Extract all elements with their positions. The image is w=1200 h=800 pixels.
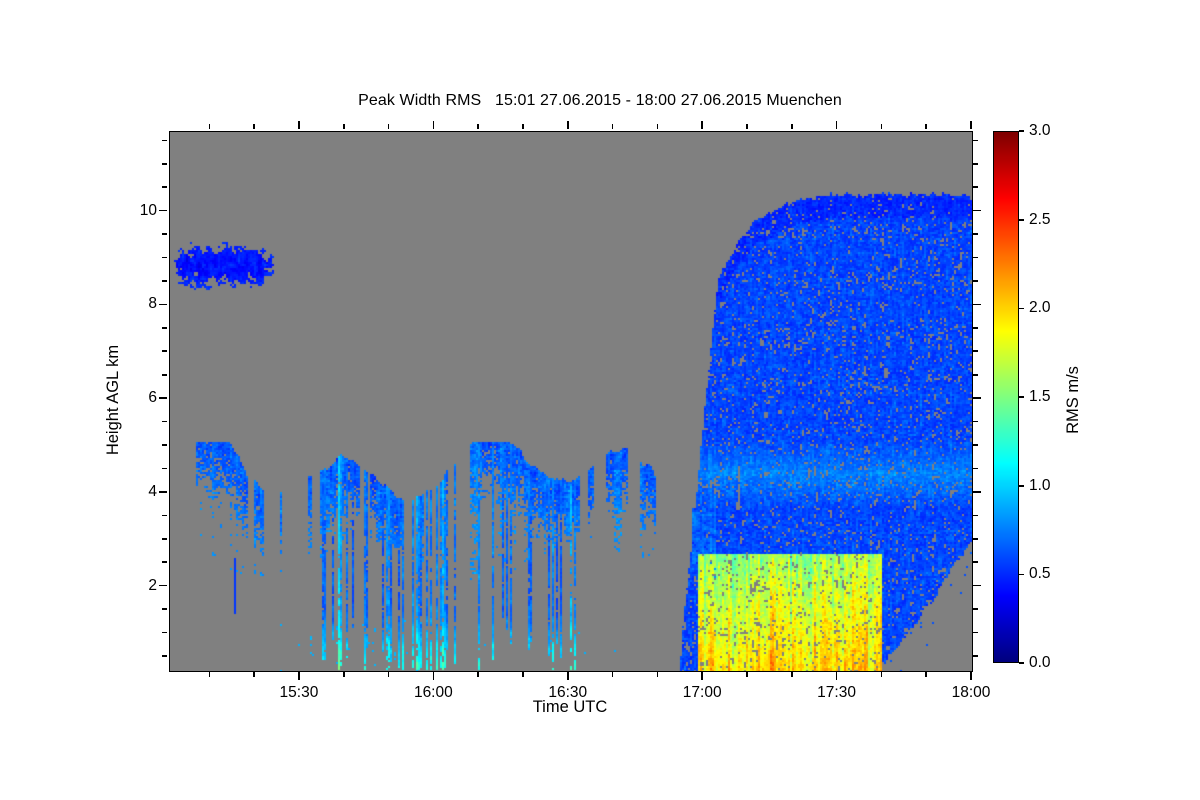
colorbar-tick xyxy=(1019,662,1024,664)
y-major-tick xyxy=(159,397,167,399)
y-axis-title-wrap: Height AGL km xyxy=(112,0,113,800)
y-minor-tick-right xyxy=(973,327,978,329)
plot-area[interactable] xyxy=(169,131,973,672)
colorbar-tick xyxy=(1019,396,1024,398)
y-minor-tick-right xyxy=(973,632,978,634)
x-minor-tick-top xyxy=(209,124,211,129)
y-minor-tick xyxy=(162,421,167,423)
y-major-tick xyxy=(159,210,167,212)
colorbar-tick-label: 1.0 xyxy=(1029,477,1051,495)
y-minor-tick-right xyxy=(973,186,978,188)
y-major-tick xyxy=(159,491,167,493)
x-major-tick xyxy=(433,672,435,680)
colorbar-tick xyxy=(1019,219,1024,221)
y-minor-tick xyxy=(162,280,167,282)
x-minor-tick-top xyxy=(477,124,479,129)
x-minor-tick-top xyxy=(612,124,614,129)
y-minor-tick-right xyxy=(973,561,978,563)
x-major-tick-top xyxy=(970,121,972,129)
colorbar-tick xyxy=(1019,308,1024,310)
y-minor-tick xyxy=(162,608,167,610)
y-major-tick-right xyxy=(973,304,981,306)
x-major-tick-top xyxy=(701,121,703,129)
colorbar-tick xyxy=(1019,130,1024,132)
y-minor-tick-right xyxy=(973,280,978,282)
x-major-tick xyxy=(701,672,703,680)
x-axis-title: Time UTC xyxy=(169,698,971,717)
x-minor-tick-top xyxy=(791,124,793,129)
y-minor-tick-right xyxy=(973,608,978,610)
y-minor-tick xyxy=(162,515,167,517)
colorbar-tick-label: 1.5 xyxy=(1029,388,1051,406)
y-major-tick-right xyxy=(973,397,981,399)
x-major-tick xyxy=(567,672,569,680)
y-major-tick-right xyxy=(973,210,981,212)
y-minor-tick-right xyxy=(973,257,978,259)
x-minor-tick xyxy=(477,672,479,677)
y-minor-tick xyxy=(162,538,167,540)
y-major-tick xyxy=(159,304,167,306)
y-minor-tick-right xyxy=(973,140,978,142)
y-axis-title: Height AGL km xyxy=(104,345,123,455)
y-major-tick xyxy=(159,585,167,587)
time-height-heatmap[interactable] xyxy=(170,132,972,671)
y-minor-tick xyxy=(162,186,167,188)
y-minor-tick-right xyxy=(973,163,978,165)
colorbar-tick xyxy=(1019,485,1024,487)
y-minor-tick-right xyxy=(973,468,978,470)
x-major-tick-top xyxy=(433,121,435,129)
x-minor-tick xyxy=(657,672,659,677)
y-minor-tick xyxy=(162,233,167,235)
colorbar-tick-label: 0.0 xyxy=(1029,654,1051,672)
y-tick-label: 10 xyxy=(113,202,157,220)
x-major-tick-top xyxy=(298,121,300,129)
y-major-tick-right xyxy=(973,491,981,493)
x-minor-tick-top xyxy=(746,124,748,129)
y-minor-tick-right xyxy=(973,350,978,352)
y-minor-tick-right xyxy=(973,515,978,517)
colorbar-title-wrap: RMS m/s xyxy=(1072,0,1073,800)
colorbar-tick-label: 0.5 xyxy=(1029,565,1051,583)
y-minor-tick xyxy=(162,327,167,329)
x-minor-tick xyxy=(388,672,390,677)
y-minor-tick xyxy=(162,163,167,165)
x-minor-tick xyxy=(612,672,614,677)
y-minor-tick-right xyxy=(973,421,978,423)
colorbar-gradient xyxy=(994,132,1018,662)
y-major-tick-right xyxy=(973,585,981,587)
y-tick-label: 4 xyxy=(113,483,157,501)
colorbar-tick-label: 2.0 xyxy=(1029,299,1051,317)
y-minor-tick xyxy=(162,561,167,563)
x-minor-tick xyxy=(343,672,345,677)
colorbar-title: RMS m/s xyxy=(1064,366,1083,434)
y-minor-tick-right xyxy=(973,538,978,540)
y-minor-tick xyxy=(162,632,167,634)
y-minor-tick xyxy=(162,655,167,657)
x-minor-tick-top xyxy=(388,124,390,129)
x-minor-tick xyxy=(746,672,748,677)
plot-title: Peak Width RMS 15:01 27.06.2015 - 18:00 … xyxy=(0,92,1200,110)
y-tick-label: 8 xyxy=(113,295,157,313)
colorbar-tick-label: 3.0 xyxy=(1029,122,1051,140)
x-minor-tick xyxy=(925,672,927,677)
y-minor-tick-right xyxy=(973,655,978,657)
x-minor-tick xyxy=(522,672,524,677)
x-major-tick xyxy=(836,672,838,680)
x-minor-tick-top xyxy=(253,124,255,129)
y-minor-tick xyxy=(162,257,167,259)
x-major-tick-top xyxy=(567,121,569,129)
x-minor-tick xyxy=(253,672,255,677)
y-tick-label: 2 xyxy=(113,577,157,595)
x-minor-tick-top xyxy=(925,124,927,129)
x-minor-tick xyxy=(209,672,211,677)
figure-root: Peak Width RMS 15:01 27.06.2015 - 18:00 … xyxy=(0,0,1200,800)
colorbar-tick-label: 2.5 xyxy=(1029,211,1051,229)
colorbar-tick xyxy=(1019,574,1024,576)
x-major-tick xyxy=(298,672,300,680)
y-minor-tick xyxy=(162,374,167,376)
colorbar[interactable] xyxy=(993,131,1019,663)
x-minor-tick-top xyxy=(657,124,659,129)
y-minor-tick xyxy=(162,444,167,446)
y-minor-tick-right xyxy=(973,444,978,446)
x-major-tick xyxy=(970,672,972,680)
x-minor-tick xyxy=(881,672,883,677)
x-minor-tick xyxy=(791,672,793,677)
x-major-tick-top xyxy=(836,121,838,129)
x-minor-tick-top xyxy=(881,124,883,129)
y-minor-tick-right xyxy=(973,374,978,376)
y-minor-tick xyxy=(162,140,167,142)
x-minor-tick-top xyxy=(522,124,524,129)
y-minor-tick xyxy=(162,350,167,352)
y-minor-tick-right xyxy=(973,233,978,235)
x-minor-tick-top xyxy=(343,124,345,129)
y-minor-tick xyxy=(162,468,167,470)
